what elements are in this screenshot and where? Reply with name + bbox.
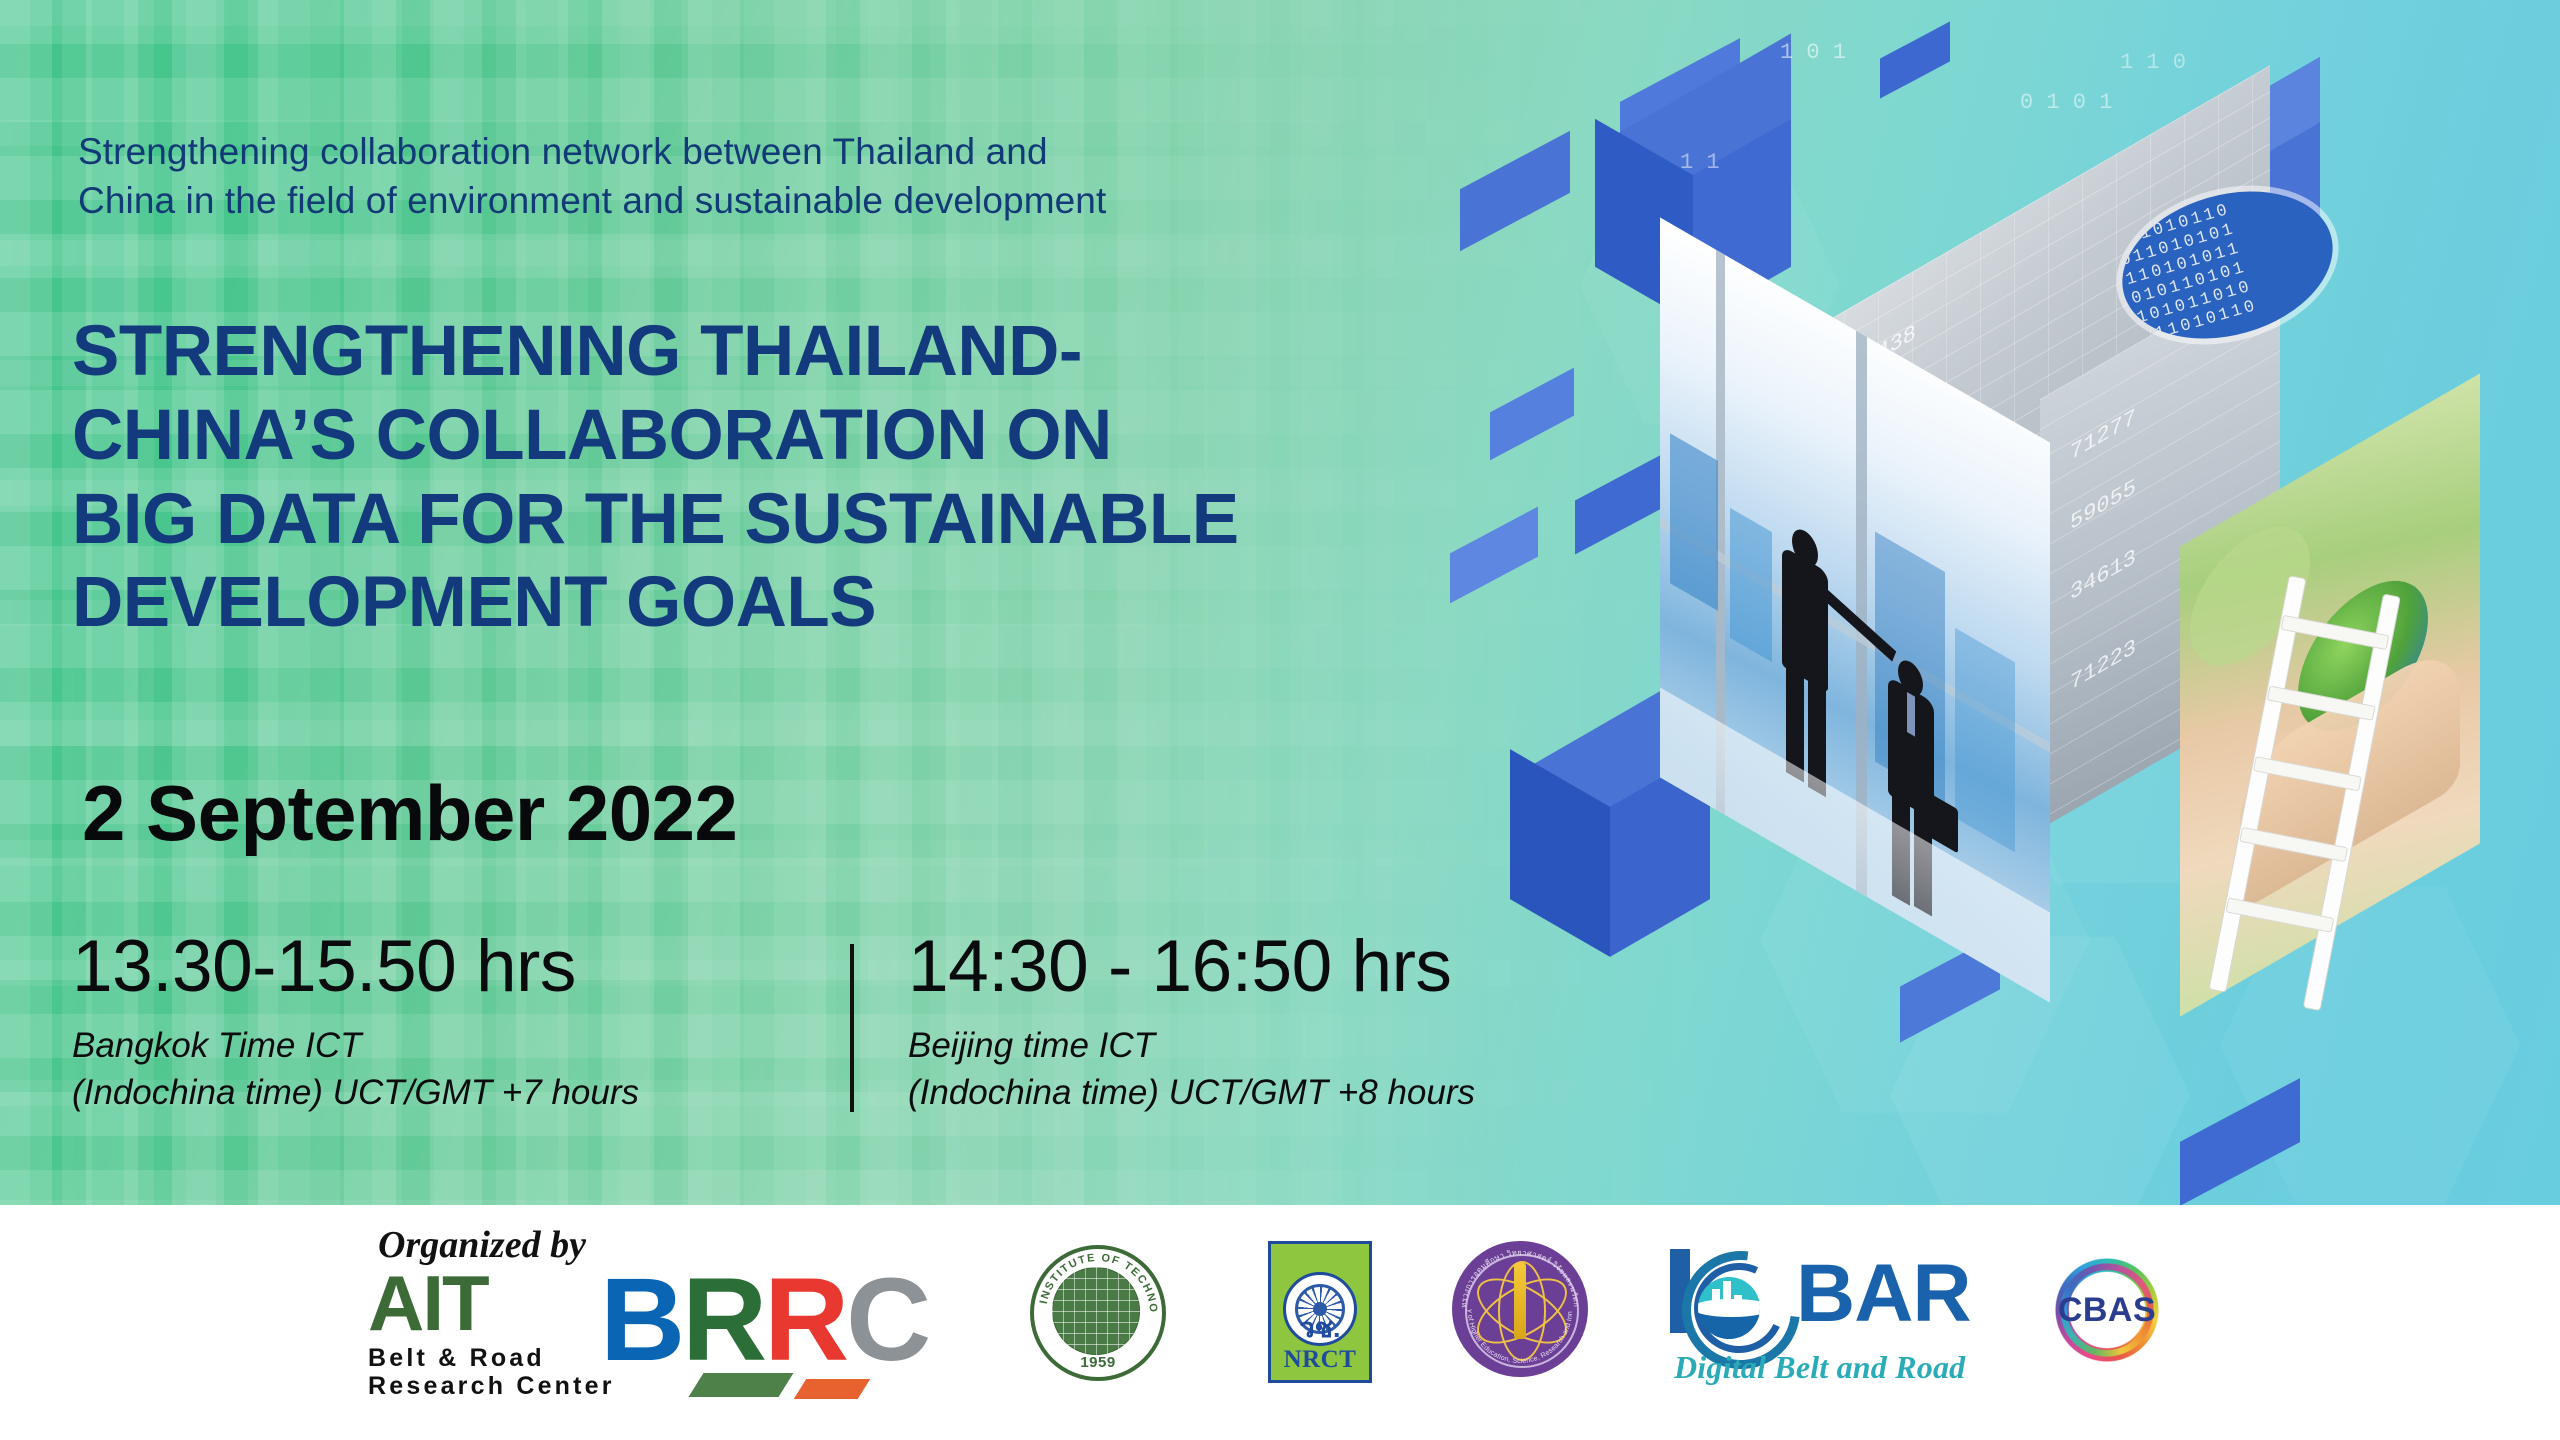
subtitle-line-1: Strengthening collaboration network betw… (78, 131, 1048, 172)
bangkok-zone-line-1: Bangkok Time ICT (72, 1026, 362, 1065)
svg-text:กระทรวงการอุดมศึกษา วิทยาศาสตร: กระทรวงการอุดมศึกษา วิทยาศาสตร์ วิจัยและ… (1452, 1241, 1581, 1308)
floating-block (1900, 960, 2000, 1016)
ministry-arc-text: กระทรวงการอุดมศึกษา วิทยาศาสตร์ วิจัยและ… (1452, 1241, 1588, 1377)
ait-letters: AIT (368, 1267, 615, 1340)
logo-ministry-mhesi: กระทรวงการอุดมศึกษา วิทยาศาสตร์ วิจัยและ… (1452, 1241, 1588, 1377)
title-line-2: CHINA’S COLLABORATION ON (72, 394, 1552, 478)
svg-text:ASIAN INSTITUTE OF TECHNOLOGY: ASIAN INSTITUTE OF TECHNOLOGY (1030, 1245, 1159, 1314)
logo-cbas: CBAS (2032, 1241, 2182, 1381)
brrc-letter-r2: R (764, 1261, 849, 1379)
footer-logo-bar: Organized by AIT Belt & Road Research Ce… (0, 1205, 2560, 1440)
event-date: 2 September 2022 (82, 768, 737, 859)
bar-wordmark: BAR (1796, 1253, 1971, 1335)
bangkok-time-value: 13.30-15.50 hrs (72, 930, 842, 1003)
floating-block (1880, 40, 1950, 80)
binary-accent: 1 1 (1680, 150, 1720, 175)
time-block-beijing: 14:30 - 16:50 hrs Beijing time ICT (Indo… (842, 930, 1475, 1116)
svg-text:Ministry of Higher Education,: Ministry of Higher Education, Science, R… (1452, 1241, 1574, 1365)
nrct-english-label: NRCT (1271, 1347, 1369, 1372)
beijing-timezone: Beijing time ICT (Indochina time) UCT/GM… (908, 1023, 1475, 1116)
beijing-time-value: 14:30 - 16:50 hrs (908, 930, 1475, 1003)
logo-row: AIT Belt & Road Research Center B R R C (0, 1205, 2560, 1440)
beijing-zone-line-1: Beijing time ICT (908, 1026, 1155, 1065)
bar-tagline: Digital Belt and Road (1674, 1349, 1965, 1386)
binary-accent: 1 0 1 (1780, 40, 1846, 65)
floating-block (1575, 475, 1671, 529)
brrc-letter-c: C (846, 1261, 931, 1379)
beijing-zone-line-2: (Indochina time) UCT/GMT +8 hours (908, 1073, 1475, 1112)
brrc-letter-b: B (600, 1261, 685, 1379)
ait-sub-line-2: Research Center (368, 1372, 615, 1400)
ait-sub-line-1: Belt & Road (368, 1344, 545, 1372)
floating-block (2180, 1110, 2300, 1174)
time-block-bangkok: 13.30-15.50 hrs Bangkok Time ICT (Indoch… (72, 930, 842, 1116)
bangkok-timezone: Bangkok Time ICT (Indochina time) UCT/GM… (72, 1023, 842, 1116)
bangkok-zone-line-2: (Indochina time) UCT/GMT +7 hours (72, 1073, 639, 1112)
event-banner: 31438 04500 71277 71277 59055 34613 7122… (0, 0, 2560, 1440)
ait-wordmark: AIT Belt & Road Research Center (368, 1267, 615, 1400)
brrc-letter-r1: R (682, 1261, 767, 1379)
title-line-4: DEVELOPMENT GOALS (72, 561, 1552, 645)
logo-ait-seal: ASIAN INSTITUTE OF TECHNOLOGY 1959 (1030, 1245, 1166, 1381)
ait-seal-year: 1959 (1034, 1354, 1162, 1371)
isometric-cube-artwork: 31438 04500 71277 71277 59055 34613 7122… (1480, 30, 2560, 1205)
logo-ait-brrc: AIT Belt & Road Research Center B R R C (368, 1267, 968, 1407)
binary-accent: 1 1 0 (2120, 50, 2186, 75)
title-line-3: BIG DATA FOR THE SUSTAINABLE (72, 478, 1552, 562)
event-title: STRENGTHENING THAILAND- CHINA’S COLLABOR… (72, 310, 1552, 645)
binary-accent: 0 1 0 1 (2020, 90, 2112, 115)
ait-subtitle: Belt & Road Research Center (368, 1344, 615, 1400)
event-times: 13.30-15.50 hrs Bangkok Time ICT (Indoch… (72, 930, 1592, 1116)
logo-bar: BAR Digital Belt and Road (1668, 1247, 1988, 1387)
bar-mark-icon (1668, 1247, 1788, 1359)
title-line-1: STRENGTHENING THAILAND- (72, 310, 1552, 394)
event-subtitle: Strengthening collaboration network betw… (78, 128, 1528, 226)
brrc-wordmark: B R R C (600, 1261, 970, 1401)
subtitle-line-2: China in the field of environment and su… (78, 180, 1106, 221)
logo-nrct: วช. NRCT (1268, 1241, 1372, 1383)
nrct-thai-label: วช. (1271, 1315, 1369, 1342)
cbas-wordmark: CBAS (2032, 1291, 2182, 1330)
